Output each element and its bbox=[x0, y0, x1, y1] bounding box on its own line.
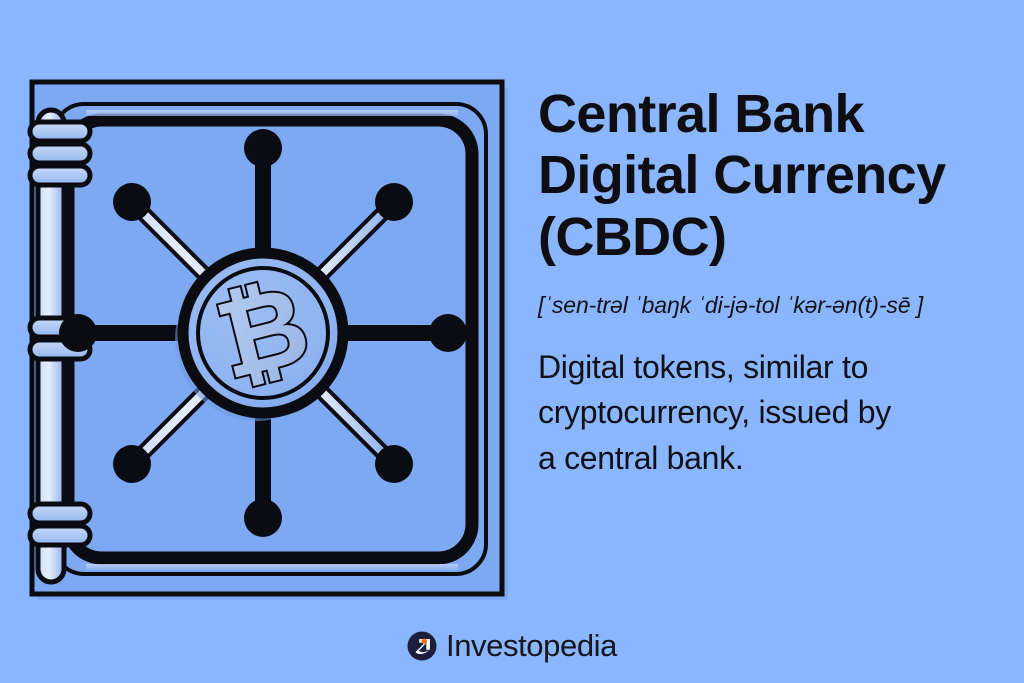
network-node-se bbox=[375, 445, 413, 483]
hinge-knuckle-bottom bbox=[30, 504, 90, 545]
pronunciation-guide: [ˈsen-trəl ˈbaŋk ˈdi-jə-tol ˈkər-ən(t)-s… bbox=[538, 292, 1000, 319]
page-title: Central Bank Digital Currency (CBDC) bbox=[538, 84, 1000, 268]
definition-text-column: Central Bank Digital Currency (CBDC) [ˈs… bbox=[538, 84, 1000, 481]
bitcoin-network: ₿ bbox=[59, 129, 467, 537]
network-node-nw bbox=[113, 183, 151, 221]
investopedia-i-mark bbox=[407, 631, 437, 661]
network-node-e bbox=[429, 314, 467, 352]
investopedia-logo: Investopedia bbox=[0, 630, 1024, 661]
network-node-w bbox=[59, 314, 97, 352]
cbdc-definition-card: ₿ Central Bank Digital Currency (CBDC) bbox=[0, 0, 1024, 683]
network-node-n bbox=[244, 129, 282, 167]
network-node-s bbox=[244, 499, 282, 537]
bitcoin-coin: ₿ bbox=[183, 253, 343, 413]
bank-vault-illustration: ₿ bbox=[16, 66, 516, 611]
hinge-knuckle-top bbox=[30, 122, 90, 185]
network-node-sw bbox=[113, 445, 151, 483]
investopedia-wordmark: Investopedia bbox=[446, 630, 617, 661]
network-node-ne bbox=[375, 183, 413, 221]
definition-text: Digital tokens, similar to cryptocurrenc… bbox=[538, 345, 1000, 481]
